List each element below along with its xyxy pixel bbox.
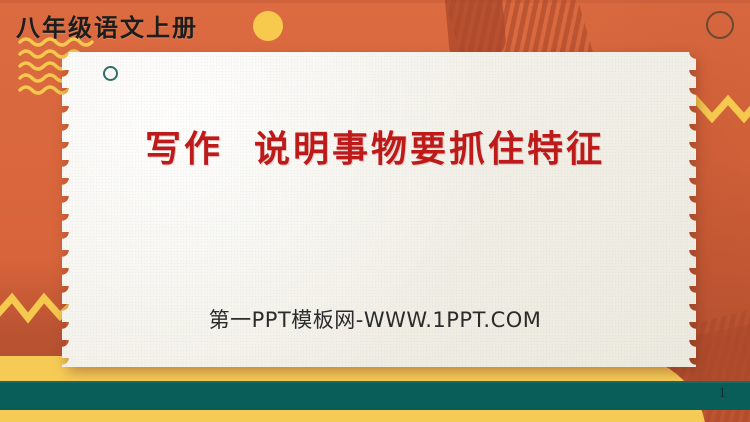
presentation-slide: 八年级语文上册 写作 说明事物要抓住特征 第一PPT模板网-WWW.1PPT.C… — [0, 0, 750, 422]
course-label: 八年级语文上册 — [16, 8, 198, 43]
footer-bar-highlight — [0, 381, 750, 383]
watermark-text: 第一PPT模板网-WWW.1PPT.COM — [0, 304, 750, 334]
teal-ring-icon — [103, 66, 118, 81]
dark-ring-icon — [706, 11, 734, 39]
footer-bar — [0, 381, 750, 410]
page-title: 写作 说明事物要抓住特征 — [0, 120, 750, 172]
yellow-dot-icon — [253, 11, 283, 41]
page-number: 1 — [719, 385, 727, 402]
